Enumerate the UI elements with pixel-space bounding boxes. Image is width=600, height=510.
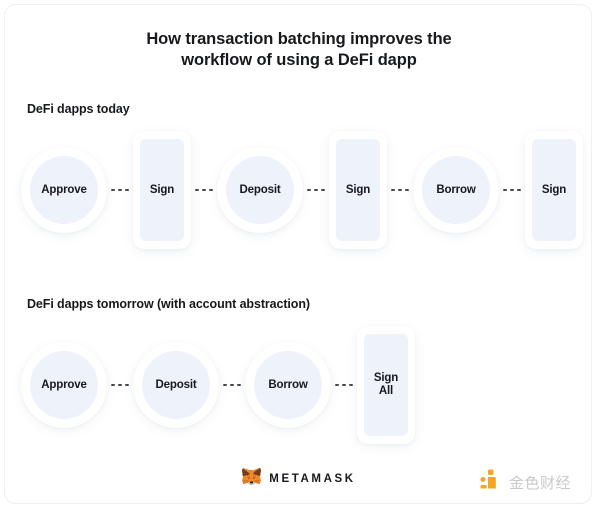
connector-dot bbox=[125, 189, 129, 191]
connector-dot bbox=[209, 189, 213, 191]
connector-dots bbox=[219, 384, 245, 386]
circle-inner: Deposit bbox=[142, 351, 210, 419]
connector-dot bbox=[237, 384, 241, 386]
step-label: Borrow bbox=[268, 379, 307, 392]
connector-dot bbox=[111, 384, 115, 386]
circle-inner: Deposit bbox=[226, 156, 294, 224]
infographic-card: How transaction batching improves the wo… bbox=[4, 4, 592, 504]
circle-shape: Deposit bbox=[217, 147, 303, 233]
connector-dot bbox=[223, 384, 227, 386]
flow-row-tomorrow: Approve Deposit Borrow bbox=[21, 320, 415, 450]
connector-dots bbox=[107, 384, 133, 386]
connector-dot bbox=[335, 384, 339, 386]
phone-shape: Sign bbox=[329, 131, 387, 249]
step-approve-aa[interactable]: Approve bbox=[21, 342, 107, 428]
step-label: Sign bbox=[150, 184, 174, 197]
metamask-fox-icon bbox=[242, 467, 261, 490]
phone-shape: Sign bbox=[525, 131, 583, 249]
watermark: 金色财经 bbox=[477, 467, 571, 498]
step-deposit-aa[interactable]: Deposit bbox=[133, 342, 219, 428]
connector-dot bbox=[230, 384, 234, 386]
connector-dot bbox=[398, 189, 402, 191]
step-borrow[interactable]: Borrow bbox=[413, 147, 499, 233]
circle-shape: Borrow bbox=[245, 342, 331, 428]
metamask-wordmark: METAMASK bbox=[269, 473, 355, 485]
page-title-line-1: How transaction batching improves the bbox=[5, 29, 592, 50]
connector-dot bbox=[391, 189, 395, 191]
step-sign-1[interactable]: Sign bbox=[133, 131, 191, 249]
phone-screen: Sign bbox=[140, 139, 184, 241]
circle-inner: Borrow bbox=[254, 351, 322, 419]
watermark-text: 金色财经 bbox=[509, 472, 571, 493]
phone-shape: Sign All bbox=[357, 326, 415, 444]
circle-shape: Approve bbox=[21, 342, 107, 428]
step-sign-all[interactable]: Sign All bbox=[357, 326, 415, 444]
connector-dot bbox=[125, 384, 129, 386]
phone-screen: Sign bbox=[532, 139, 576, 241]
circle-shape: Approve bbox=[21, 147, 107, 233]
connector-dot bbox=[321, 189, 325, 191]
flow-row-today: Approve Sign Deposit bbox=[21, 125, 583, 255]
phone-shape: Sign bbox=[133, 131, 191, 249]
step-label: Sign bbox=[346, 184, 370, 197]
step-label: Deposit bbox=[155, 379, 196, 392]
connector-dot bbox=[202, 189, 206, 191]
connector-dots bbox=[107, 189, 133, 191]
connector-dot bbox=[307, 189, 311, 191]
phone-screen: Sign All bbox=[364, 334, 408, 436]
connector-dot bbox=[342, 384, 346, 386]
connector-dot bbox=[349, 384, 353, 386]
connector-dot bbox=[503, 189, 507, 191]
step-label: Sign bbox=[542, 184, 566, 197]
phone-screen: Sign bbox=[336, 139, 380, 241]
step-borrow-aa[interactable]: Borrow bbox=[245, 342, 331, 428]
step-deposit[interactable]: Deposit bbox=[217, 147, 303, 233]
jinse-logo-icon bbox=[477, 467, 503, 498]
connector-dot bbox=[405, 189, 409, 191]
connector-dots bbox=[387, 189, 413, 191]
connector-dot bbox=[195, 189, 199, 191]
connector-dot bbox=[118, 189, 122, 191]
page-title: How transaction batching improves the wo… bbox=[5, 29, 592, 71]
connector-dot bbox=[111, 189, 115, 191]
circle-inner: Approve bbox=[30, 351, 98, 419]
step-label: Sign All bbox=[374, 372, 398, 398]
step-label: Approve bbox=[41, 379, 87, 392]
circle-inner: Approve bbox=[30, 156, 98, 224]
page-title-line-2: workflow of using a DeFi dapp bbox=[5, 50, 592, 71]
step-label: Borrow bbox=[436, 184, 475, 197]
step-label: Approve bbox=[41, 184, 87, 197]
circle-inner: Borrow bbox=[422, 156, 490, 224]
section-label-tomorrow: DeFi dapps tomorrow (with account abstra… bbox=[27, 297, 310, 311]
connector-dots bbox=[331, 384, 357, 386]
connector-dot bbox=[510, 189, 514, 191]
step-sign-3[interactable]: Sign bbox=[525, 131, 583, 249]
connector-dots bbox=[191, 189, 217, 191]
circle-shape: Deposit bbox=[133, 342, 219, 428]
connector-dots bbox=[303, 189, 329, 191]
connector-dot bbox=[517, 189, 521, 191]
step-label: Deposit bbox=[239, 184, 280, 197]
step-sign-2[interactable]: Sign bbox=[329, 131, 387, 249]
circle-shape: Borrow bbox=[413, 147, 499, 233]
connector-dots bbox=[499, 189, 525, 191]
connector-dot bbox=[314, 189, 318, 191]
section-label-today: DeFi dapps today bbox=[27, 102, 130, 116]
step-approve[interactable]: Approve bbox=[21, 147, 107, 233]
connector-dot bbox=[118, 384, 122, 386]
